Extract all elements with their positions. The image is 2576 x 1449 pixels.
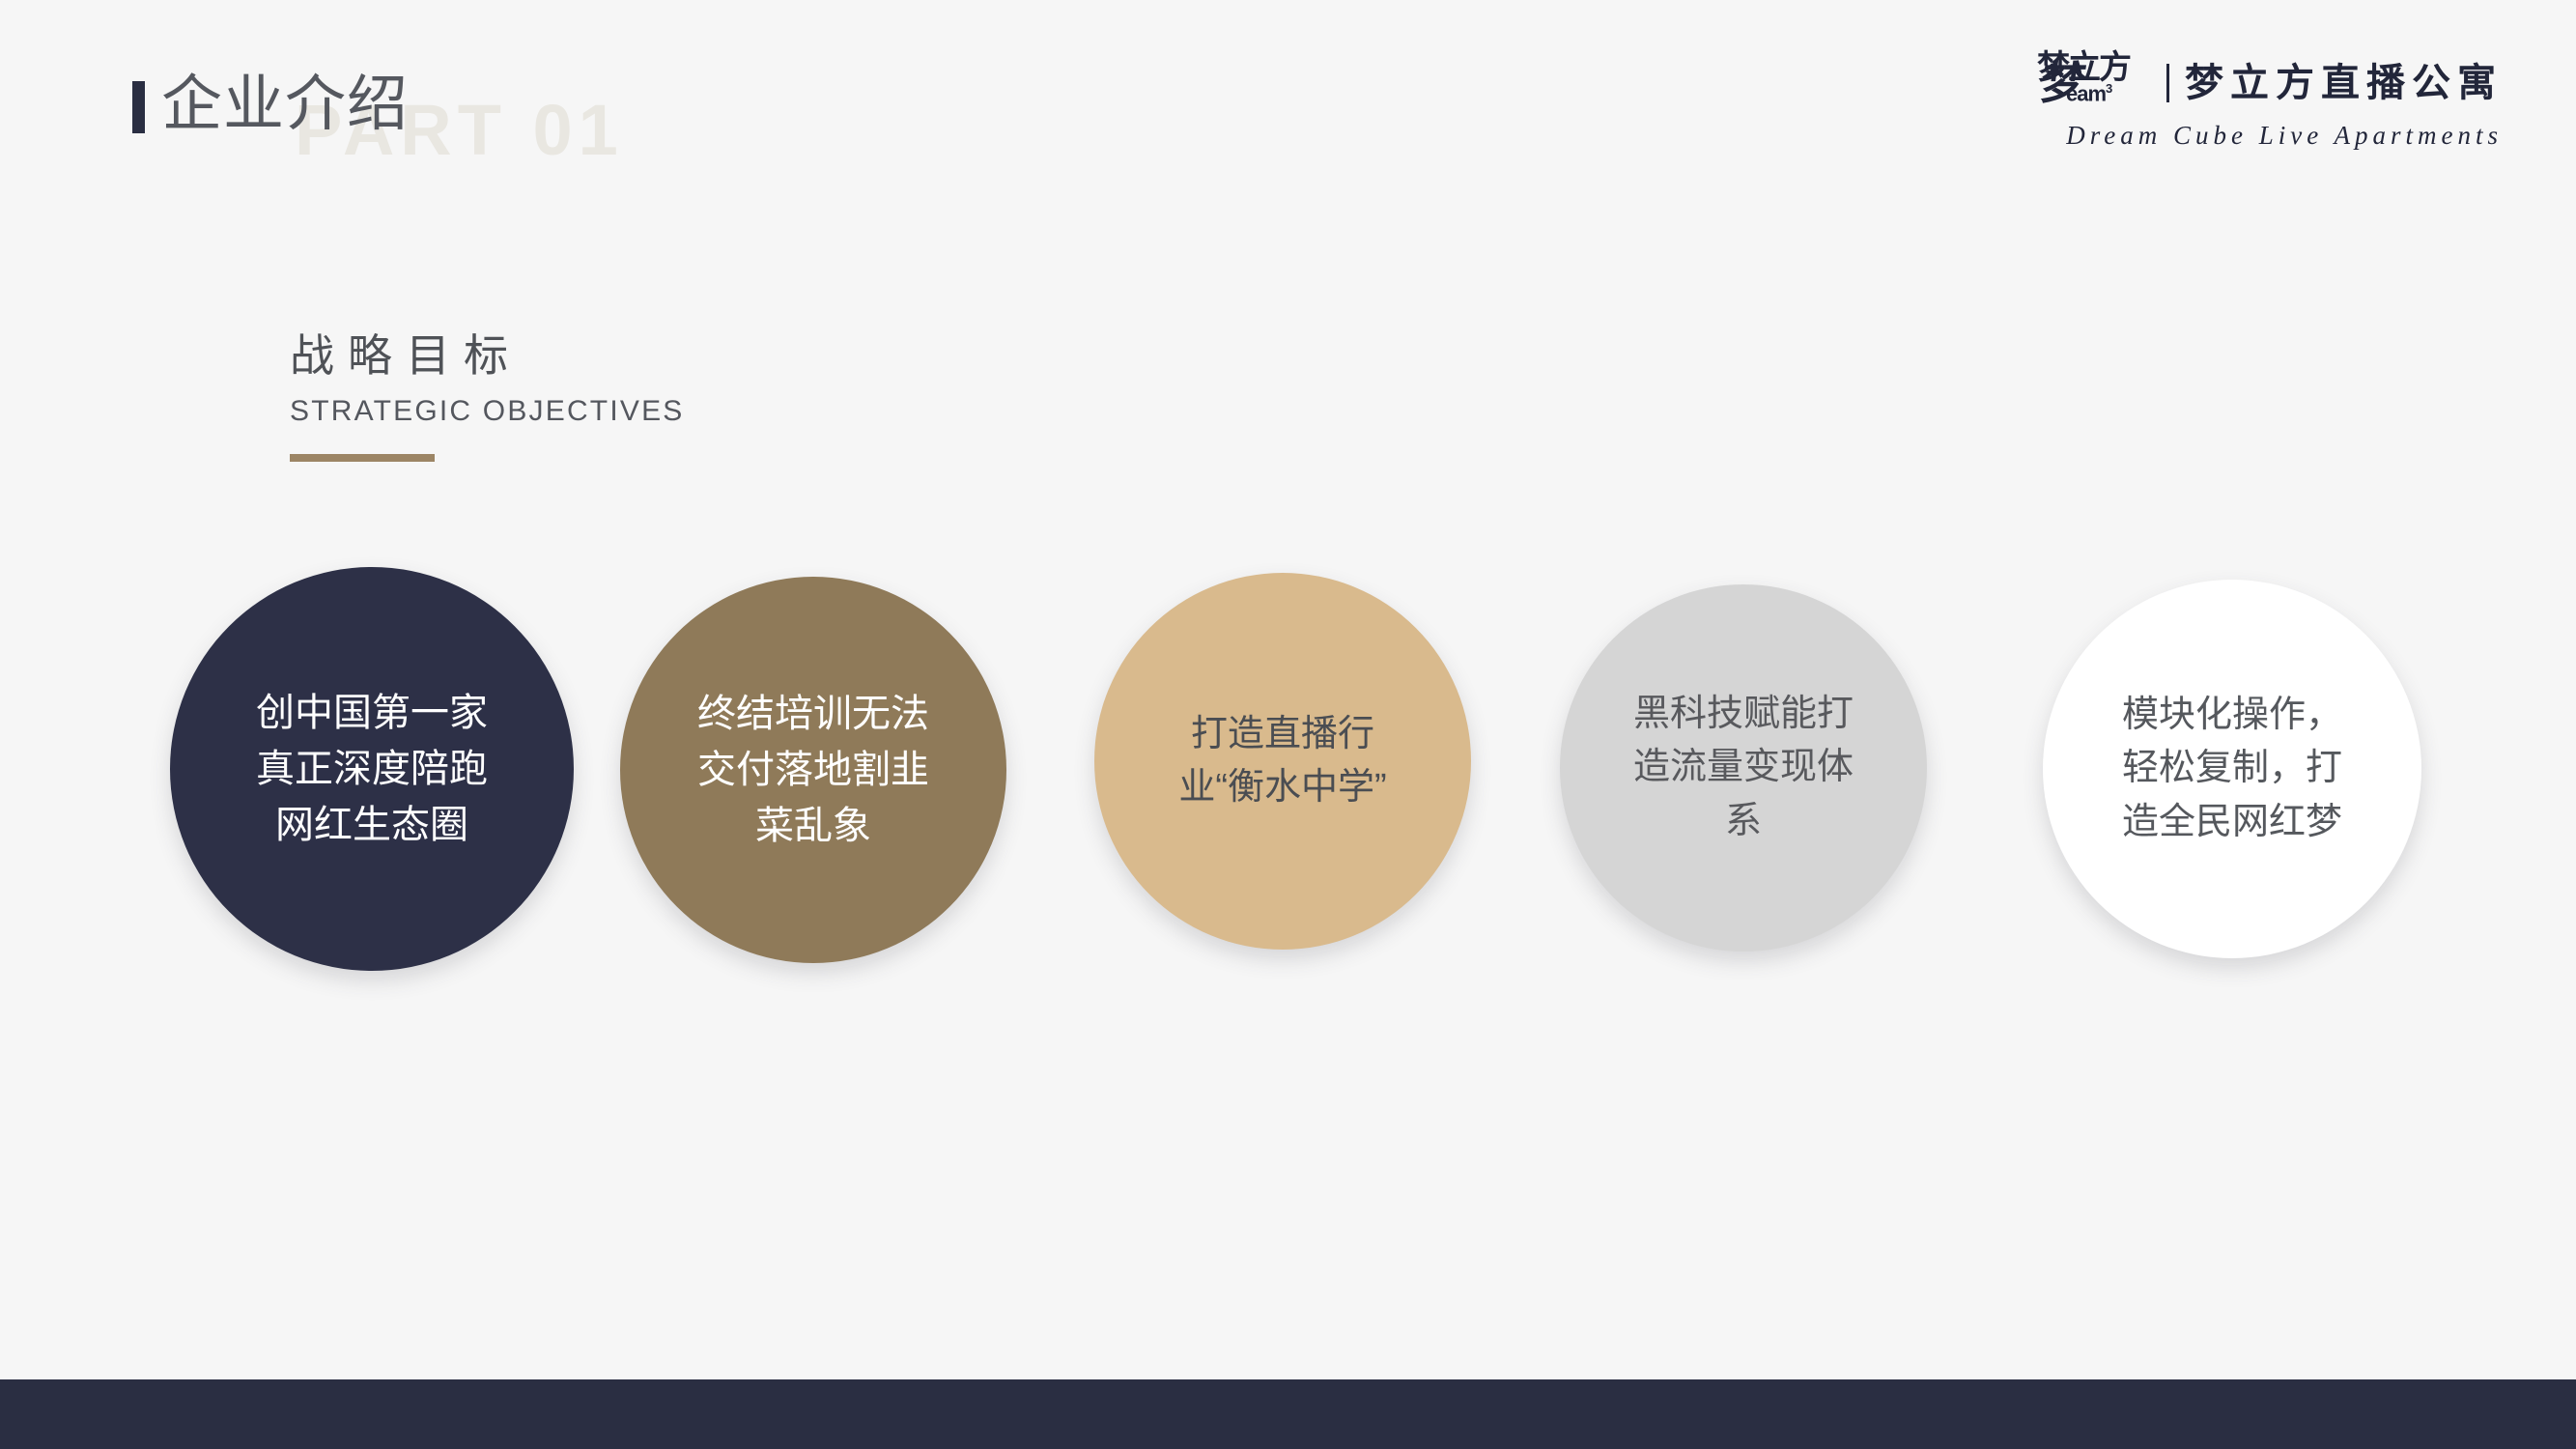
slide-root: PART 01 企业介绍 梦立方 梦 eam3 梦立方直播公寓 Dream Cu… (0, 0, 2576, 1449)
objective-circle-4-label: 黑科技赋能打造流量变现体系 (1623, 688, 1865, 847)
objective-circle-3-label: 打造直播行业“衡水中学” (1159, 708, 1407, 814)
objective-circle-3[interactable]: 打造直播行业“衡水中学” (1094, 573, 1471, 950)
objective-circle-5[interactable]: 模块化操作，轻松复制，打造全民网红梦 (2043, 580, 2421, 958)
objective-circle-2-label: 终结培训无法交付落地割韭菜乱象 (686, 686, 941, 854)
objective-circle-1[interactable]: 创中国第一家真正深度陪跑网红生态圈 (170, 567, 574, 971)
objective-circle-4[interactable]: 黑科技赋能打造流量变现体系 (1560, 584, 1927, 952)
footer-bar (0, 1379, 2576, 1449)
objective-circle-2[interactable]: 终结培训无法交付落地割韭菜乱象 (620, 577, 1006, 963)
objective-circle-row: 创中国第一家真正深度陪跑网红生态圈终结培训无法交付落地割韭菜乱象打造直播行业“衡… (0, 0, 2576, 1449)
objective-circle-1-label: 创中国第一家真正深度陪跑网红生态圈 (239, 685, 505, 853)
objective-circle-5-label: 模块化操作，轻松复制，打造全民网红梦 (2108, 689, 2358, 848)
